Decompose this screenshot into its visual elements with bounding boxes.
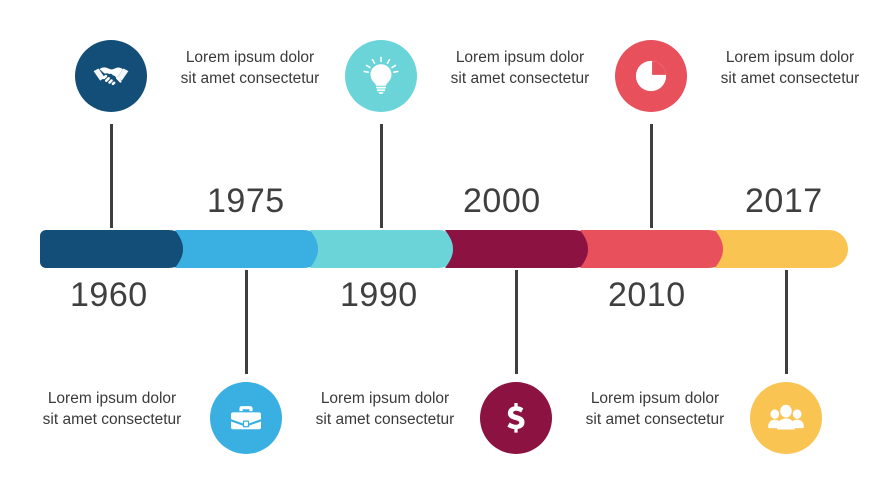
stem-1960 xyxy=(110,124,113,228)
segment-shape-2010 xyxy=(580,230,728,268)
stem-2010 xyxy=(650,124,653,228)
timeline-segment-2017[interactable] xyxy=(715,230,848,268)
lightbulb-icon xyxy=(360,55,402,97)
timeline-bar xyxy=(40,230,848,268)
icon-circle-2010[interactable] xyxy=(615,40,687,112)
stem-2017 xyxy=(785,270,788,374)
description-1975: Lorem ipsum dolor sit amet consectetur xyxy=(177,47,323,89)
year-label-1960: 1960 xyxy=(70,276,148,315)
stem-2000 xyxy=(515,270,518,374)
year-label-1990: 1990 xyxy=(340,276,418,315)
description-2000: Lorem ipsum dolor sit amet consectetur xyxy=(447,47,593,89)
segment-shape-1975 xyxy=(175,230,323,268)
pie-chart-icon xyxy=(629,54,673,98)
dollar-icon xyxy=(496,398,536,438)
description-2010: Lorem ipsum dolor sit amet consectetur xyxy=(582,388,728,430)
segment-shape-1960 xyxy=(40,230,188,268)
timeline-segment-1960[interactable] xyxy=(40,230,188,268)
stem-1975 xyxy=(245,270,248,374)
icon-circle-2017[interactable] xyxy=(750,382,822,454)
icon-circle-2000[interactable] xyxy=(480,382,552,454)
icon-circle-1990[interactable] xyxy=(345,40,417,112)
year-label-2010: 2010 xyxy=(608,276,686,315)
year-label-2017: 2017 xyxy=(745,182,823,221)
segment-shape-2000 xyxy=(445,230,593,268)
briefcase-icon xyxy=(226,398,266,438)
timeline-segment-2010[interactable] xyxy=(580,230,728,268)
icon-circle-1960[interactable] xyxy=(75,40,147,112)
year-label-2000: 2000 xyxy=(463,182,541,221)
icon-circle-1975[interactable] xyxy=(210,382,282,454)
people-icon xyxy=(765,397,807,439)
description-1960: Lorem ipsum dolor sit amet consectetur xyxy=(39,388,185,430)
handshake-icon xyxy=(90,55,132,97)
timeline-segment-1975[interactable] xyxy=(175,230,323,268)
stem-1990 xyxy=(380,124,383,228)
segment-shape-2017 xyxy=(715,230,848,268)
timeline-infographic: 1960 1975 1990 2000 2010 2017 Lorem ipsu… xyxy=(0,0,889,500)
timeline-segment-1990[interactable] xyxy=(310,230,458,268)
timeline-segment-2000[interactable] xyxy=(445,230,593,268)
year-label-1975: 1975 xyxy=(207,182,285,221)
description-1990: Lorem ipsum dolor sit amet consectetur xyxy=(312,388,458,430)
segment-shape-1990 xyxy=(310,230,458,268)
description-2017: Lorem ipsum dolor sit amet consectetur xyxy=(717,47,863,89)
